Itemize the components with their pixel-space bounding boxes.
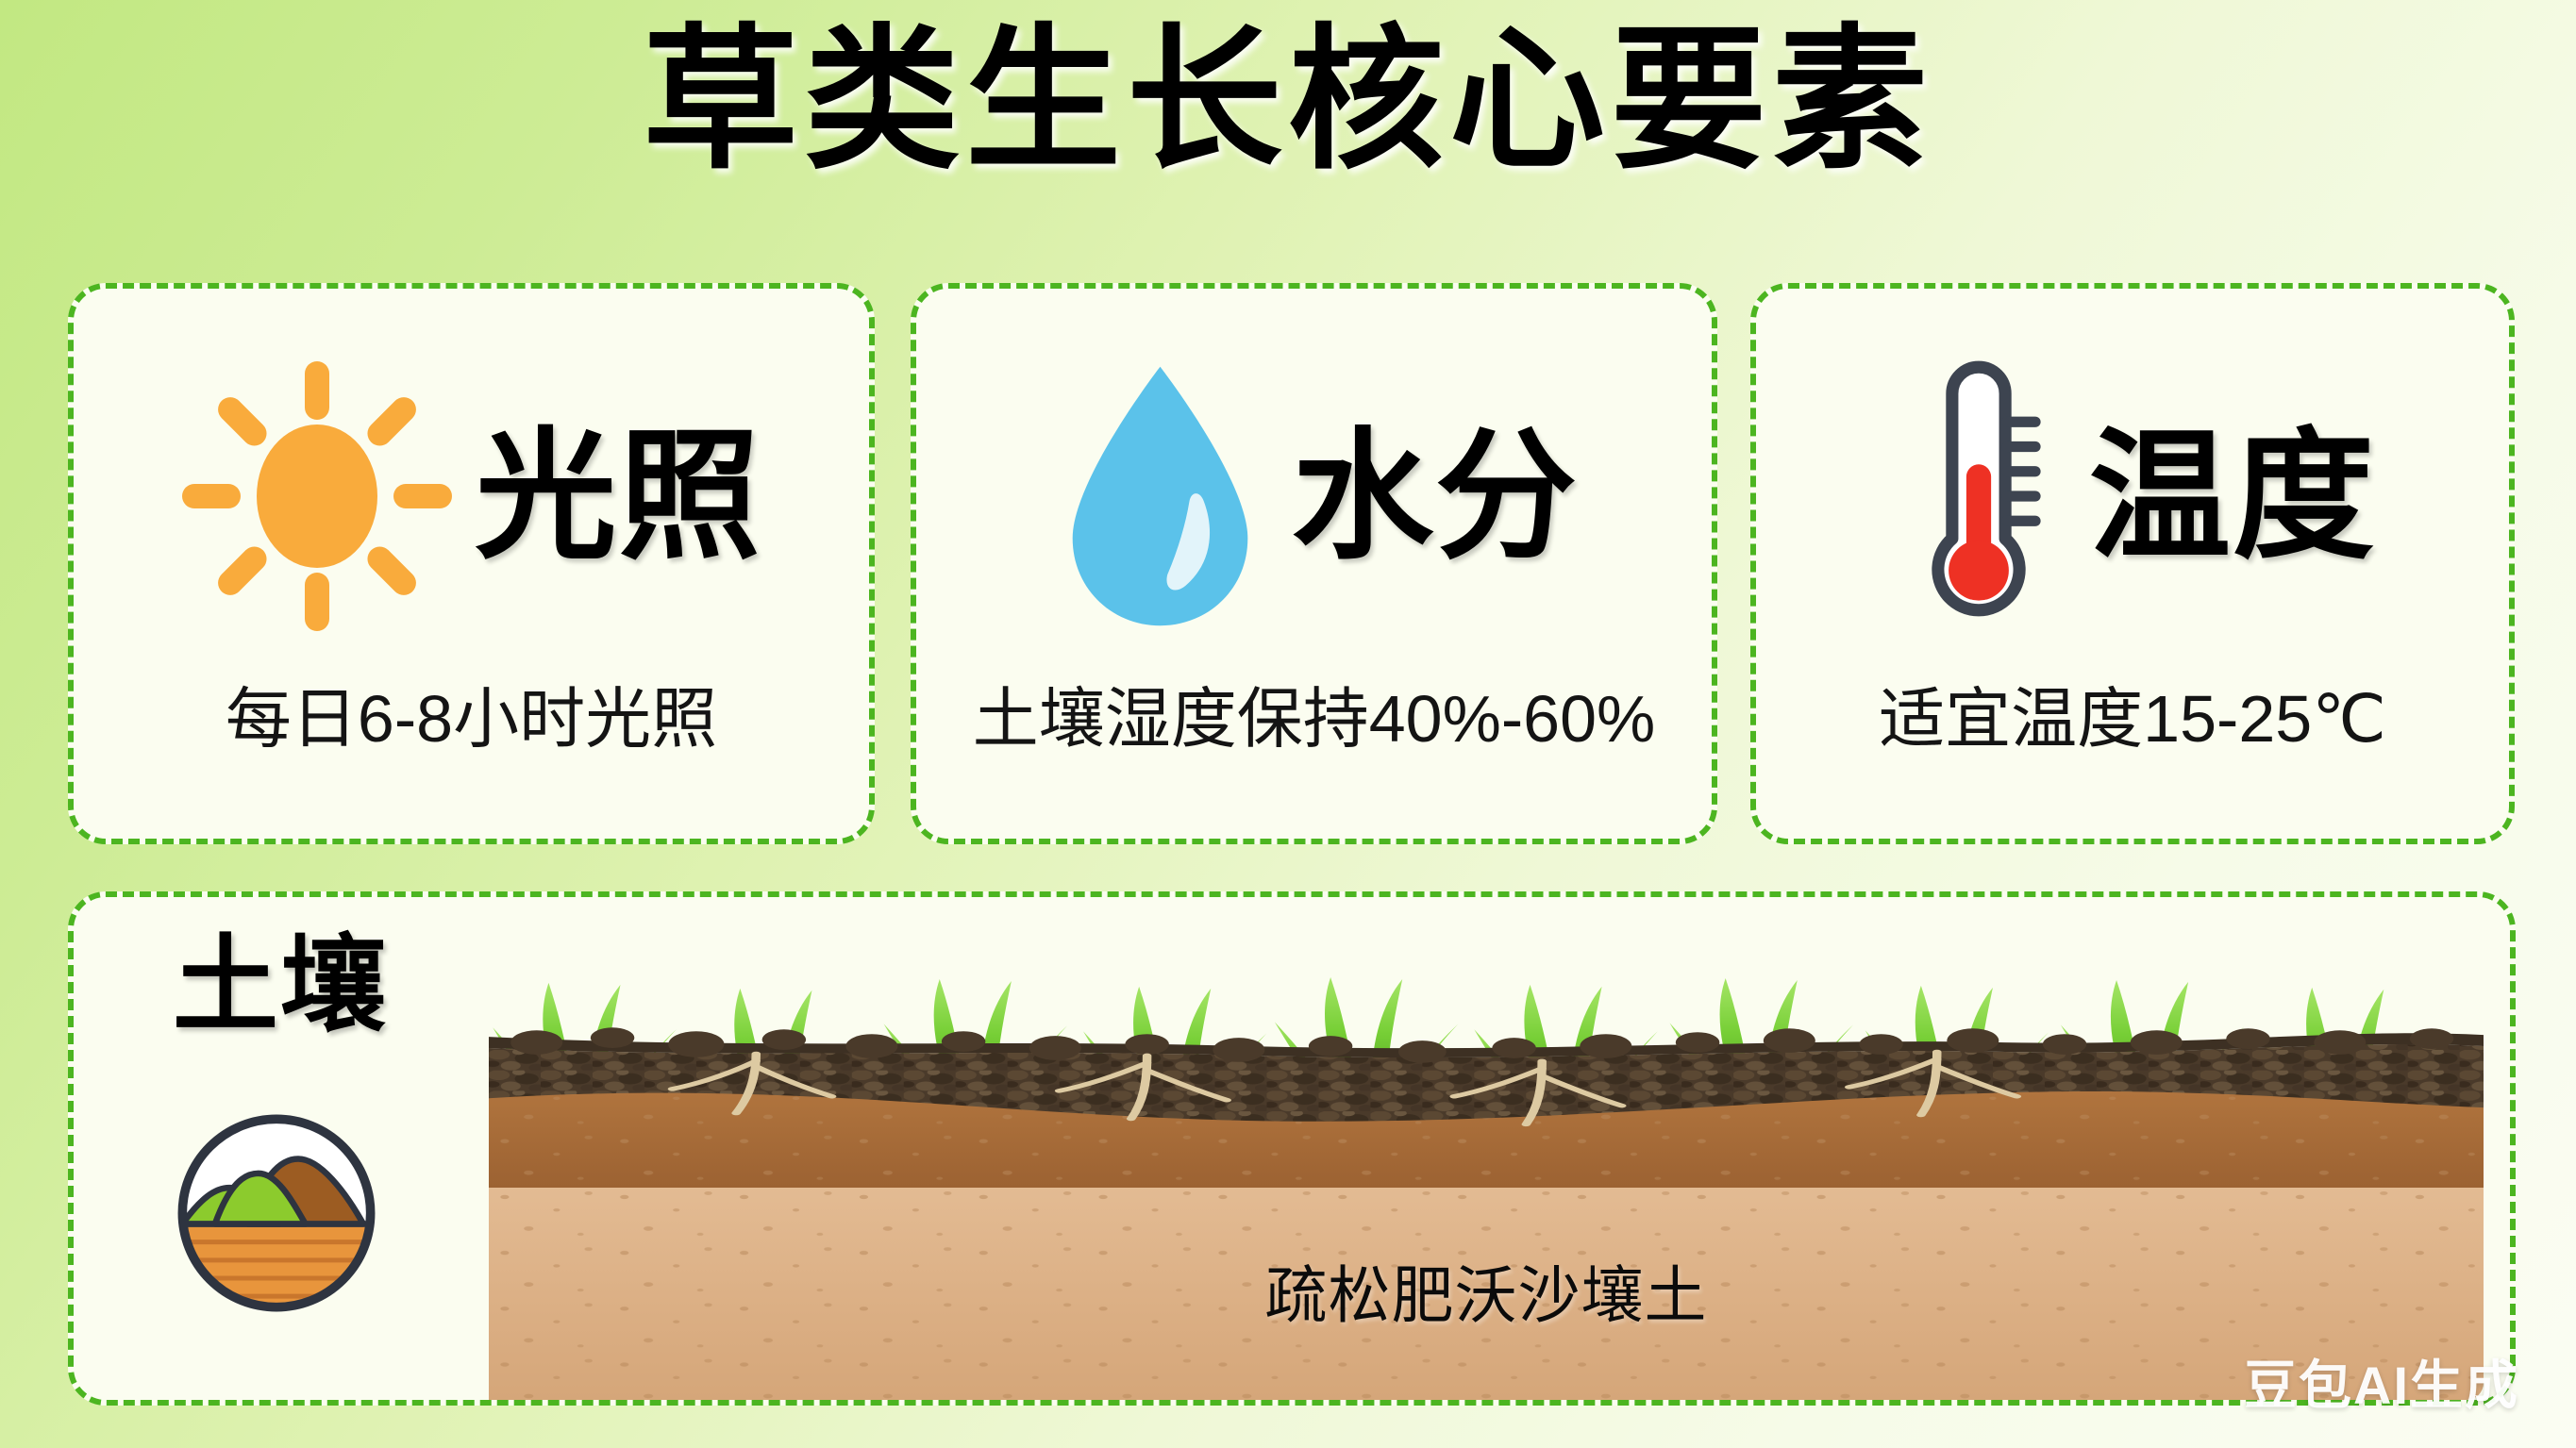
soil-card[interactable]: 土壤 <box>68 891 2516 1406</box>
sun-ray <box>363 541 422 600</box>
factor-card-water[interactable]: 水分 土壤湿度保持40%-60% <box>911 283 1717 844</box>
soil-caption: 疏松肥沃沙壤土 <box>489 1245 2484 1336</box>
sun-ray <box>305 361 329 420</box>
factor-header-temperature: 温度 <box>1756 341 2509 652</box>
factor-header-light: 光照 <box>74 341 869 652</box>
sun-icon <box>180 359 454 633</box>
sun-ray <box>213 541 272 600</box>
sun-ray <box>363 392 422 451</box>
soil-layers-badge-icon <box>168 1105 385 1322</box>
water-drop-icon <box>1049 359 1271 633</box>
factor-label-light: 光照 <box>475 425 761 567</box>
sun-ray <box>393 484 452 508</box>
factor-caption-temperature: 适宜温度15-25℃ <box>1756 666 2509 761</box>
watermark: 豆包AI生成 <box>2244 1343 2519 1420</box>
factor-header-water: 水分 <box>916 341 1712 652</box>
sun-ray <box>213 392 272 451</box>
sun-ray <box>182 484 241 508</box>
factor-caption-light: 每日6-8小时光照 <box>74 666 869 761</box>
thermometer-icon <box>1889 355 2068 638</box>
soil-label: 土壤 <box>173 933 388 1039</box>
page-title: 草类生长核心要素 <box>0 19 2576 182</box>
factor-label-temperature: 温度 <box>2089 425 2376 567</box>
factor-card-light[interactable]: 光照 每日6-8小时光照 <box>68 283 875 844</box>
factor-label-water: 水分 <box>1292 425 1579 567</box>
soil-cross-section-illustration: 疏松肥沃沙壤土 <box>489 907 2484 1400</box>
factor-card-temperature[interactable]: 温度 适宜温度15-25℃ <box>1750 283 2515 844</box>
sun-core <box>257 424 377 568</box>
factor-caption-water: 土壤湿度保持40%-60% <box>916 666 1712 761</box>
sun-ray <box>305 573 329 631</box>
